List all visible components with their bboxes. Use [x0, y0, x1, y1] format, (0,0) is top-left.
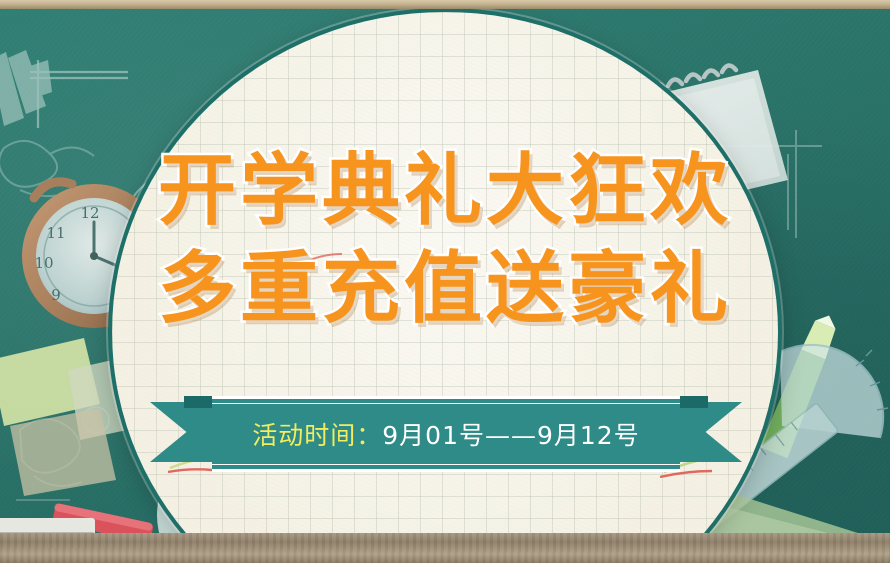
svg-text:12: 12	[80, 204, 99, 222]
svg-text:11: 11	[46, 224, 65, 242]
promo-banner: 12 11 10 9	[0, 0, 890, 563]
event-time-label: 活动时间：	[252, 421, 382, 450]
chalkboard-frame-top	[0, 0, 890, 9]
svg-text:10: 10	[34, 254, 53, 272]
event-time-range: 9月01号——9月12号	[382, 421, 639, 450]
event-time-text: 活动时间：9月01号——9月12号	[252, 416, 639, 452]
chalkboard-ledge	[0, 533, 890, 563]
scribble-icon	[300, 250, 360, 270]
scribble-icon	[580, 252, 650, 276]
event-ribbon: 活动时间：9月01号——9月12号	[150, 396, 742, 472]
ribbon-body: 活动时间：9月01号——9月12号	[212, 396, 680, 472]
svg-text:9: 9	[51, 286, 61, 304]
paper-grain-texture	[112, 12, 778, 563]
paper-circle	[112, 12, 778, 563]
